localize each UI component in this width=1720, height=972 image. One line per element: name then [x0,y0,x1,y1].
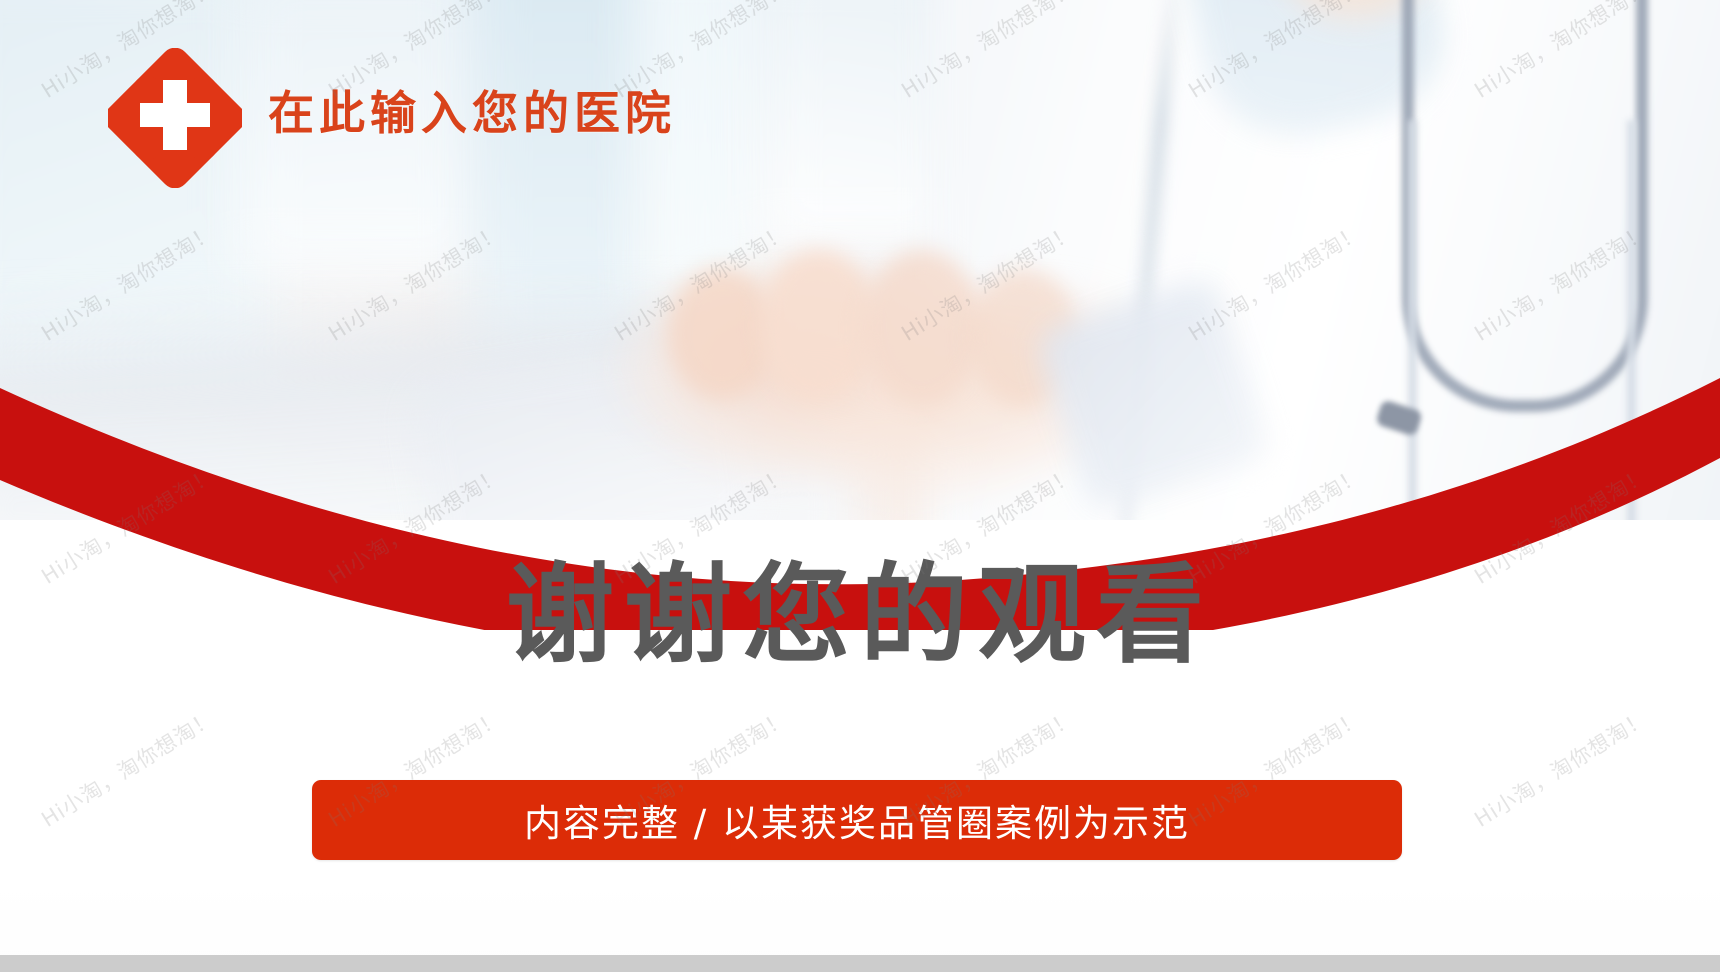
subtitle-banner-button[interactable]: 内容完整 / 以某获奖品管圈案例为示范 [312,780,1402,860]
hospital-logo [108,48,242,188]
hospital-name-text: 在此输入您的医院 [268,90,676,136]
bottom-gray-strip [0,955,1720,972]
page-title: 谢谢您的观看 [0,556,1720,677]
subtitle-banner-label: 内容完整 / 以某获奖品管圈案例为示范 [524,793,1190,847]
presentation-slide: 在此输入您的医院 谢谢您的观看 内容完整 / 以某获奖品管圈案例为示范 Hi小淘… [0,0,1720,972]
